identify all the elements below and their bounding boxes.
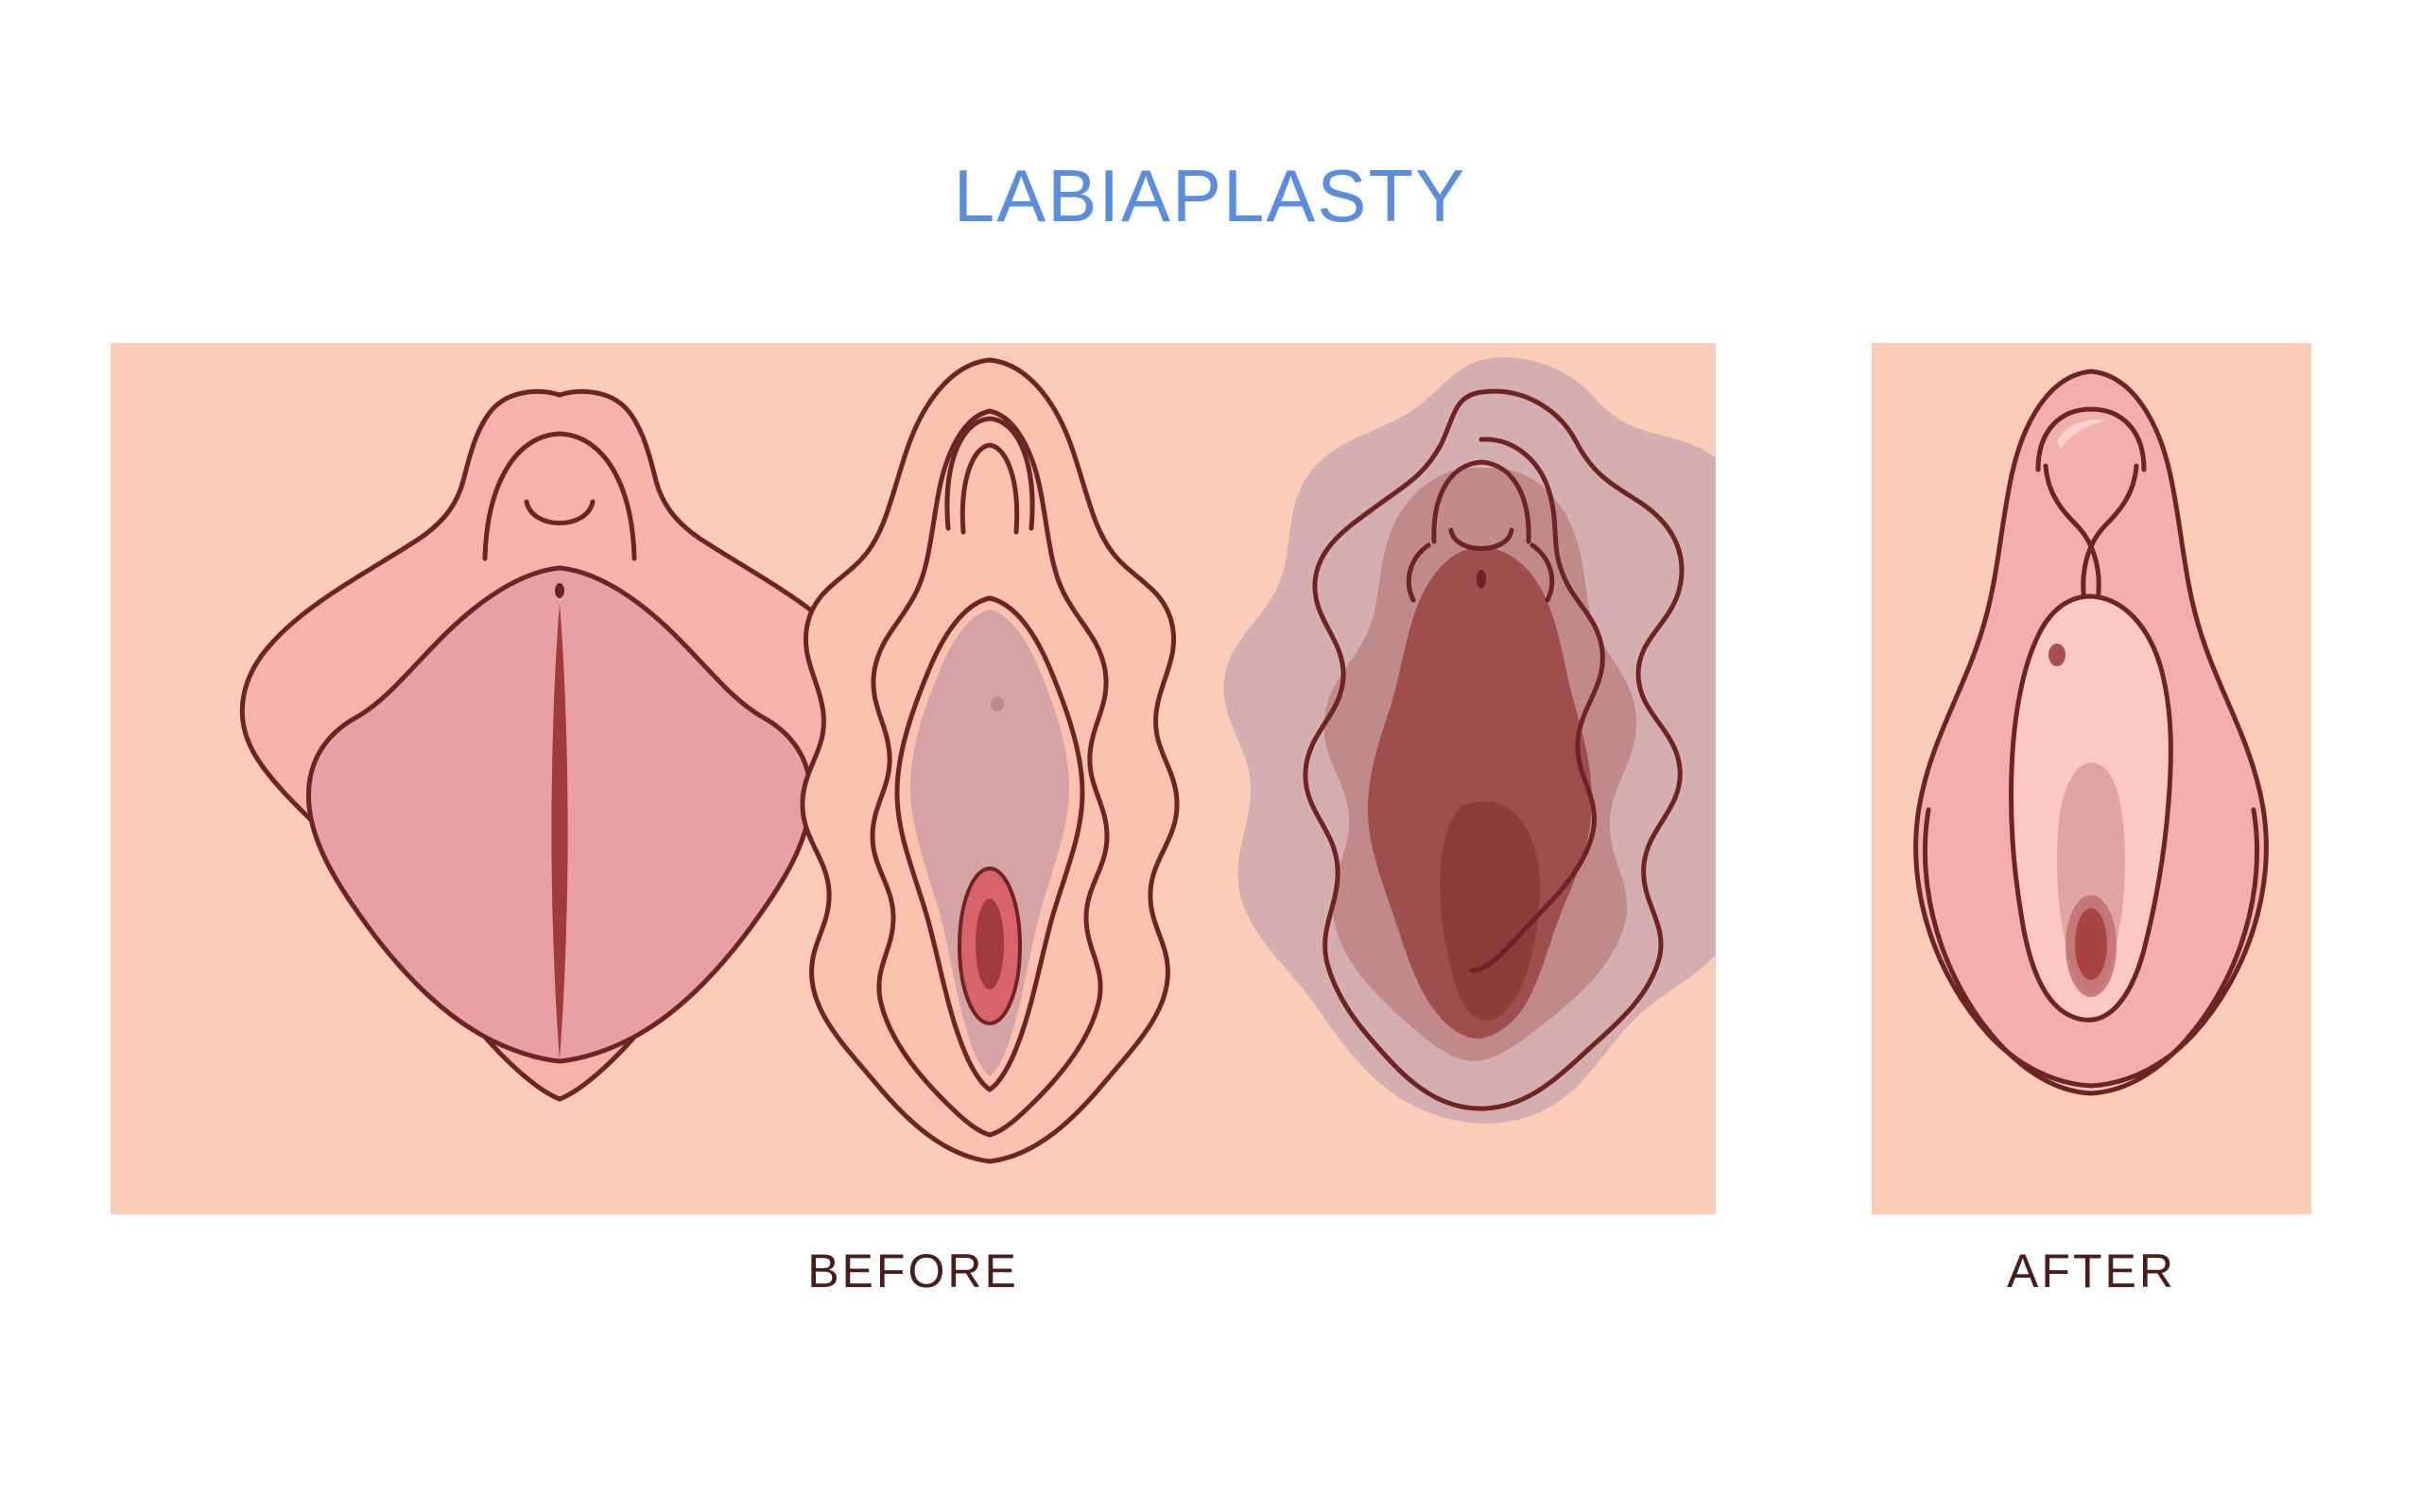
urethral-opening-dot [2048, 644, 2066, 666]
panel-before [111, 343, 1716, 1214]
urethral-opening-dot [1477, 570, 1486, 589]
after-figure-group [1872, 343, 2311, 1214]
page-title: LABIAPLASTY [0, 159, 2420, 232]
vaginal-opening-inner [976, 899, 1004, 989]
illustration-canvas: LABIAPLASTY [0, 0, 2420, 1512]
before-figures-group [111, 343, 1716, 1214]
figure-post-surgery-result [1916, 371, 2267, 1093]
figure-elongated-asymmetric-labia [803, 360, 1177, 1161]
urethral-opening-dot [555, 583, 564, 598]
figure-enlarged-protruding-labia [242, 391, 876, 1099]
figure-swollen-hypertrophic-labia [1224, 357, 1716, 1124]
vaginal-opening-core [2075, 908, 2107, 980]
urethral-opening-dot [991, 696, 1004, 712]
panel-after [1872, 343, 2311, 1214]
caption-after: AFTER [1872, 1247, 2311, 1295]
caption-before: BEFORE [111, 1247, 1716, 1295]
